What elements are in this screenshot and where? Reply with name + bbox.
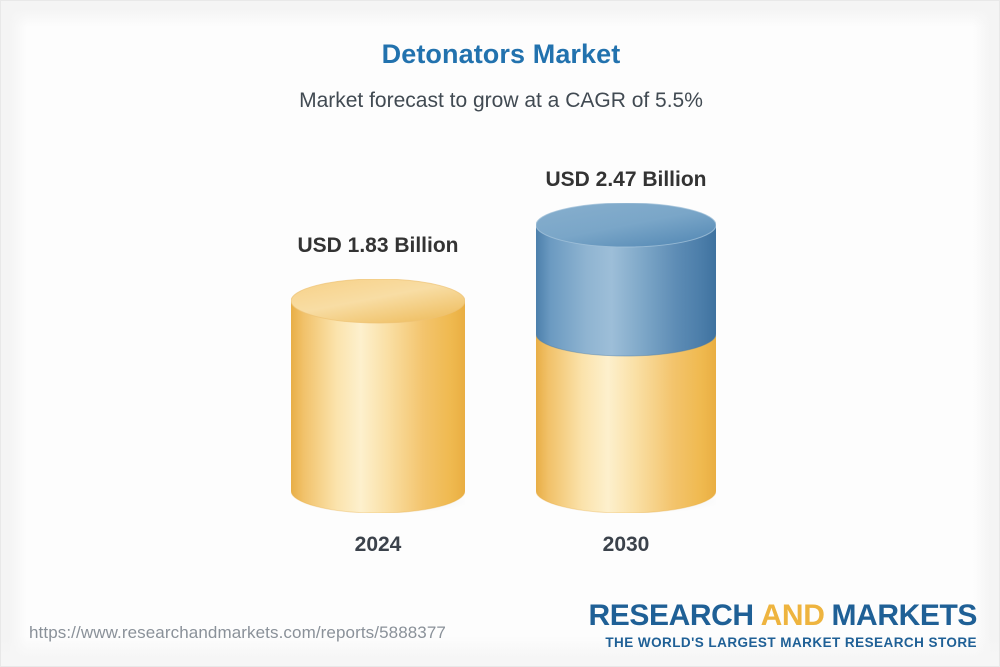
report-url[interactable]: https://www.researchandmarkets.com/repor… — [29, 623, 446, 643]
chart-title: Detonators Market — [1, 39, 1000, 70]
chart-subtitle: Market forecast to grow at a CAGR of 5.5… — [1, 89, 1000, 113]
logo-word-research: RESEARCH — [589, 599, 754, 632]
bar-category-label-2024: 2024 — [291, 533, 465, 557]
cylinder-2030[interactable] — [536, 203, 716, 513]
cylinder-2024-svg — [291, 279, 465, 513]
cylinder-2030-svg — [536, 203, 716, 513]
bar-value-label-2030: USD 2.47 Billion — [536, 168, 716, 192]
chart-canvas: Detonators Market Market forecast to gro… — [0, 0, 1000, 667]
bar-group-2024: USD 1.83 Billion — [291, 171, 465, 571]
logo-wordmark: RESEARCHANDMARKETS — [589, 601, 977, 632]
bar-group-2030: USD 2.47 Billion — [536, 161, 716, 571]
logo-tagline: THE WORLD'S LARGEST MARKET RESEARCH STOR… — [589, 635, 977, 650]
logo-word-markets: MARKETS — [831, 599, 977, 632]
logo-word-and: AND — [761, 599, 825, 632]
researchandmarkets-logo[interactable]: RESEARCHANDMARKETS THE WORLD'S LARGEST M… — [589, 601, 977, 650]
bar-value-label-2024: USD 1.83 Billion — [291, 234, 465, 258]
bar-category-label-2030: 2030 — [536, 533, 716, 557]
cylinder-2024[interactable] — [291, 279, 465, 513]
